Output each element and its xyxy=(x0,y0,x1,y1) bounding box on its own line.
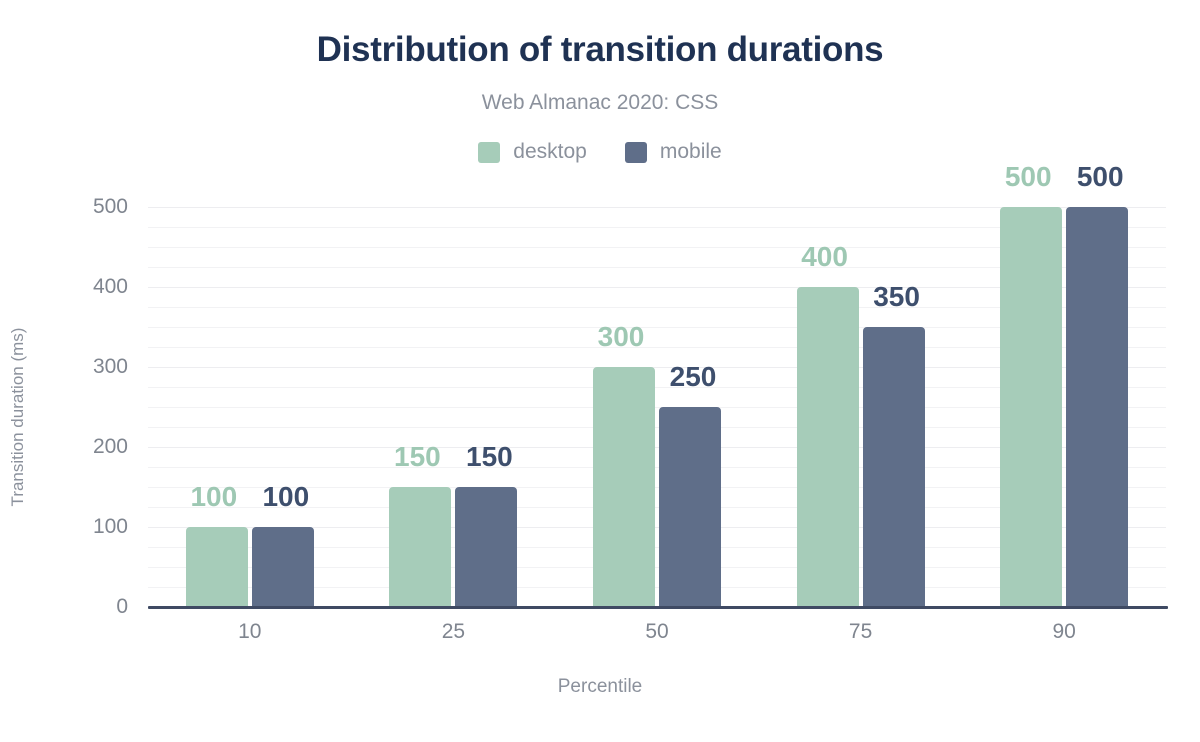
legend-swatch-desktop-icon xyxy=(478,142,500,163)
legend-item-desktop[interactable]: desktop xyxy=(478,140,587,164)
bar-label-mobile-p75: 350 xyxy=(837,281,957,313)
chart-subtitle: Web Almanac 2020: CSS xyxy=(0,91,1200,115)
y-axis-tick-200: 200 xyxy=(68,435,128,459)
x-axis-tick-75: 75 xyxy=(781,620,941,644)
x-axis-tick-25: 25 xyxy=(373,620,533,644)
x-axis-title: Percentile xyxy=(0,676,1200,698)
bar-label-desktop-p50: 300 xyxy=(561,321,681,353)
legend-item-mobile[interactable]: mobile xyxy=(625,140,722,164)
y-axis-tick-100: 100 xyxy=(68,515,128,539)
bar-label-desktop-p75: 400 xyxy=(765,241,885,273)
bar-mobile-p75[interactable] xyxy=(863,327,925,607)
legend-label-desktop: desktop xyxy=(513,140,587,164)
y-axis-title: Transition duration (ms) xyxy=(8,207,28,627)
bar-mobile-p50[interactable] xyxy=(659,407,721,607)
legend-swatch-mobile-icon xyxy=(625,142,647,163)
legend-label-mobile: mobile xyxy=(660,140,722,164)
chart-title: Distribution of transition durations xyxy=(0,30,1200,70)
bar-mobile-p10[interactable] xyxy=(252,527,314,607)
bar-desktop-p25[interactable] xyxy=(389,487,451,607)
bar-desktop-p90[interactable] xyxy=(1000,207,1062,607)
y-axis-tick-300: 300 xyxy=(68,355,128,379)
bar-label-mobile-p90: 500 xyxy=(1040,161,1160,193)
y-axis-tick-0: 0 xyxy=(68,595,128,619)
bar-desktop-p75[interactable] xyxy=(797,287,859,607)
bar-label-mobile-p10: 100 xyxy=(226,481,346,513)
chart-container: Distribution of transition durations Web… xyxy=(0,0,1200,742)
bar-mobile-p25[interactable] xyxy=(455,487,517,607)
x-axis-tick-10: 10 xyxy=(170,620,330,644)
bar-label-mobile-p50: 250 xyxy=(633,361,753,393)
plot-area: 100100150150300250400350500500 xyxy=(148,207,1166,607)
bar-desktop-p10[interactable] xyxy=(186,527,248,607)
bar-mobile-p90[interactable] xyxy=(1066,207,1128,607)
y-axis-tick-400: 400 xyxy=(68,275,128,299)
x-axis-line xyxy=(148,606,1168,609)
y-axis-tick-500: 500 xyxy=(68,195,128,219)
bar-label-mobile-p25: 150 xyxy=(429,441,549,473)
x-axis-tick-50: 50 xyxy=(577,620,737,644)
x-axis-tick-90: 90 xyxy=(984,620,1144,644)
bar-desktop-p50[interactable] xyxy=(593,367,655,607)
